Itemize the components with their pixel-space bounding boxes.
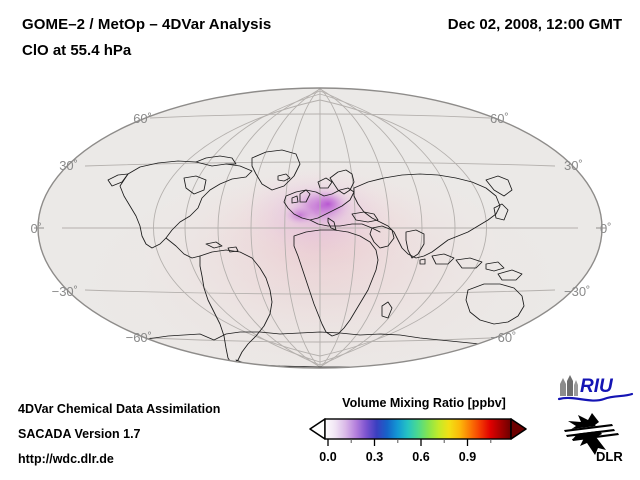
colorbar-tick-0: 0.0 (319, 450, 336, 464)
colorbar-tick-3: 0.9 (459, 450, 476, 464)
footer-line-1: 4DVar Chemical Data Assimilation (18, 402, 220, 416)
lat-label-right-60: 60˚ (490, 111, 509, 126)
riu-logo: RIU (556, 374, 636, 404)
colorbar-over-arrow (511, 419, 526, 439)
page-subtitle: ClO at 55.4 hPa (22, 42, 131, 59)
colorbar-under-arrow (310, 419, 325, 439)
dlr-logo: DLR (562, 412, 632, 464)
map-svg: 60˚ 30˚ 0˚ −30˚ −60˚ 60˚ 30˚ 0˚ −30˚ −60… (0, 78, 640, 378)
dlr-logo-text: DLR (596, 449, 623, 464)
riu-towers-icon (560, 375, 578, 396)
lat-label-right-m30: −30˚ (564, 284, 590, 299)
lat-label-right-30: 30˚ (564, 158, 583, 173)
footer-line-2: SACADA Version 1.7 (18, 427, 141, 441)
colorbar-gradient (325, 419, 511, 439)
lat-label-left-m30: −30˚ (52, 284, 78, 299)
timestamp-label: Dec 02, 2008, 12:00 GMT (448, 16, 622, 33)
riu-logo-text: RIU (580, 376, 614, 397)
lat-label-left-0: 0˚ (30, 221, 42, 236)
lat-label-left-30: 30˚ (59, 158, 78, 173)
colorbar: Volume Mixing Ratio [ppbv] (308, 396, 548, 474)
world-map: 60˚ 30˚ 0˚ −30˚ −60˚ 60˚ 30˚ 0˚ −30˚ −60… (0, 78, 640, 378)
colorbar-tick-2: 0.6 (412, 450, 429, 464)
footer-url[interactable]: http://wdc.dlr.de (18, 452, 114, 466)
lat-label-left-m60: −60˚ (126, 330, 152, 345)
colorbar-title: Volume Mixing Ratio [ppbv] (308, 396, 540, 410)
lat-label-left-60: 60˚ (133, 111, 152, 126)
page-title: GOME–2 / MetOp – 4DVar Analysis (22, 16, 271, 33)
colorbar-tick-1: 0.3 (366, 450, 383, 464)
lat-label-right-0: 0˚ (600, 221, 612, 236)
colorbar-svg: 0.0 0.3 0.6 0.9 (308, 416, 548, 474)
lat-label-right-m60: −60˚ (490, 330, 516, 345)
figure-root: GOME–2 / MetOp – 4DVar Analysis ClO at 5… (0, 0, 640, 480)
